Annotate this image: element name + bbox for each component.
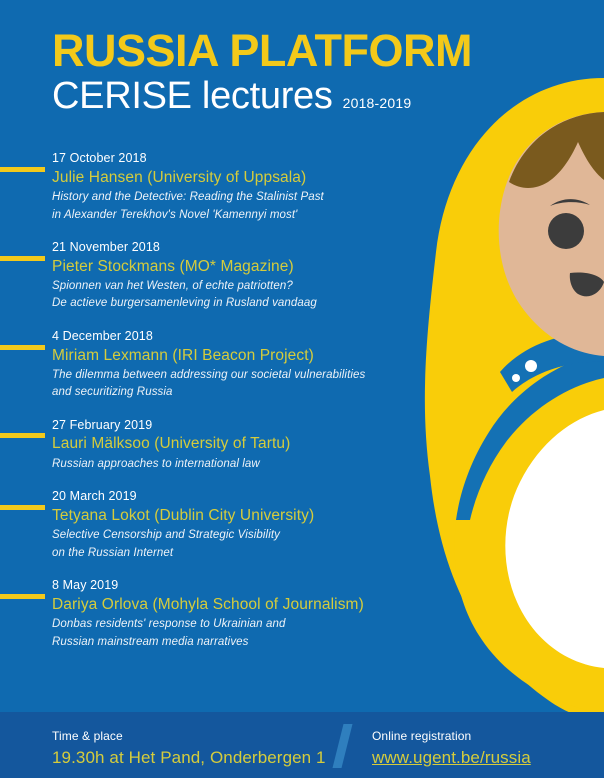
lecture-date: 8 May 2019	[52, 577, 420, 594]
lecture-title-line: Russian mainstream media narratives	[52, 634, 420, 651]
lecture-title-line: Russian approaches to international law	[52, 456, 420, 473]
lecture-title-line: Selective Censorship and Strategic Visib…	[52, 527, 420, 544]
lecture-title-line: Spionnen van het Westen, of echte patrio…	[52, 278, 420, 295]
lecture-title-line: in Alexander Terekhov's Novel 'Kamennyi …	[52, 207, 420, 224]
lecture-speaker: Pieter Stockmans (MO* Magazine)	[52, 256, 420, 278]
footer-time-value: 19.30h at Het Pand, Onderbergen 1	[52, 745, 326, 771]
footer-divider-slash	[333, 724, 353, 768]
lecture-speaker: Tetyana Lokot (Dublin City University)	[52, 505, 420, 527]
lecture-item: 4 December 2018 Miriam Lexmann (IRI Beac…	[0, 328, 420, 402]
poster-title: RUSSIA PLATFORM	[52, 28, 492, 73]
lecture-date: 17 October 2018	[52, 150, 420, 167]
lecture-item: 8 May 2019 Dariya Orlova (Mohyla School …	[0, 577, 420, 651]
lecture-accent-bar	[0, 433, 45, 438]
lecture-date: 27 February 2019	[52, 417, 420, 434]
lecture-date: 21 November 2018	[52, 239, 420, 256]
lecture-title-line: Donbas residents' response to Ukrainian …	[52, 616, 420, 633]
doll-dot	[512, 374, 520, 382]
poster-header: RUSSIA PLATFORM CERISE lectures 2018-201…	[52, 28, 492, 115]
lecture-item: 21 November 2018 Pieter Stockmans (MO* M…	[0, 239, 420, 313]
doll-dot	[525, 360, 537, 372]
footer-registration: Online registration www.ugent.be/russia	[372, 728, 531, 770]
poster-subtitle: CERISE lectures	[52, 77, 333, 115]
doll-eye	[548, 213, 584, 249]
lecture-accent-bar	[0, 594, 45, 599]
footer-time-place: Time & place 19.30h at Het Pand, Onderbe…	[52, 728, 326, 770]
lecture-title-line: on the Russian Internet	[52, 545, 420, 562]
lecture-title-line: The dilemma between addressing our socie…	[52, 367, 420, 384]
poster-subtitle-row: CERISE lectures 2018-2019	[52, 77, 492, 115]
footer-time-label: Time & place	[52, 728, 326, 745]
lecture-accent-bar	[0, 345, 45, 350]
lecture-speaker: Miriam Lexmann (IRI Beacon Project)	[52, 345, 420, 367]
lecture-item: 27 February 2019 Lauri Mälksoo (Universi…	[0, 417, 420, 474]
lecture-date: 20 March 2019	[52, 488, 420, 505]
lecture-speaker: Julie Hansen (University of Uppsala)	[52, 167, 420, 189]
lecture-speaker: Lauri Mälksoo (University of Tartu)	[52, 433, 420, 455]
lecture-title-line: and securitizing Russia	[52, 384, 420, 401]
poster-years-badge: 2018-2019	[343, 95, 412, 111]
lecture-accent-bar	[0, 167, 45, 172]
lecture-accent-bar	[0, 256, 45, 261]
lecture-speaker: Dariya Orlova (Mohyla School of Journali…	[52, 594, 420, 616]
poster: RUSSIA PLATFORM CERISE lectures 2018-201…	[0, 0, 604, 778]
lecture-title-line: History and the Detective: Reading the S…	[52, 189, 420, 206]
lecture-title-line: De actieve burgersamenleving in Rusland …	[52, 295, 420, 312]
poster-footer: Time & place 19.30h at Het Pand, Onderbe…	[0, 712, 604, 778]
lecture-date: 4 December 2018	[52, 328, 420, 345]
lecture-item: 20 March 2019 Tetyana Lokot (Dublin City…	[0, 488, 420, 562]
lecture-item: 17 October 2018 Julie Hansen (University…	[0, 150, 420, 224]
footer-registration-url[interactable]: www.ugent.be/russia	[372, 745, 531, 771]
lecture-list: 17 October 2018 Julie Hansen (University…	[0, 150, 420, 666]
lecture-accent-bar	[0, 505, 45, 510]
footer-registration-label: Online registration	[372, 728, 531, 745]
